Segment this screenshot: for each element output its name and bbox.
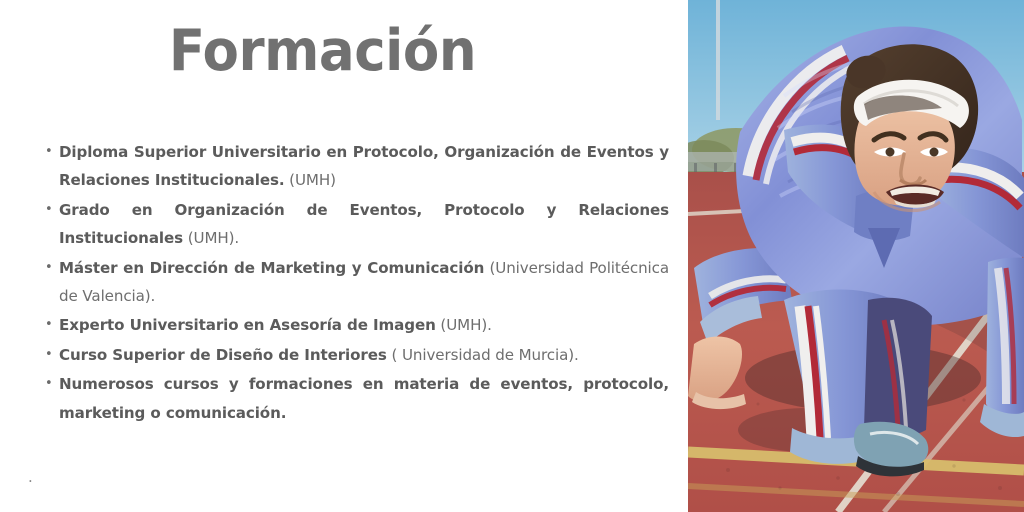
- list-item: Curso Superior de Diseño de Interiores (…: [45, 341, 669, 369]
- list-item-bold-text: Numerosos cursos y formaciones en materi…: [59, 375, 669, 421]
- list-item: Grado en Organización de Eventos, Protoc…: [45, 196, 669, 253]
- text-column: Formación Diploma Superior Universitario…: [0, 0, 688, 512]
- list-item-bold-text: Máster en Dirección de Marketing y Comun…: [59, 259, 484, 277]
- athlete-photo: [688, 0, 1024, 512]
- trailing-period-mark: .: [28, 470, 33, 485]
- list-item-regular-text: (UMH).: [436, 316, 492, 334]
- list-item: Diploma Superior Universitario en Protoc…: [45, 138, 669, 195]
- list-item-bold-text: Grado en Organización de Eventos, Protoc…: [59, 201, 669, 247]
- list-item: Numerosos cursos y formaciones en materi…: [45, 370, 669, 427]
- athlete-photo-illustration: [688, 0, 1024, 512]
- list-item: Experto Universitario en Asesoría de Ima…: [45, 311, 669, 339]
- list-item: Máster en Dirección de Marketing y Comun…: [45, 254, 669, 311]
- list-item-bold-text: Experto Universitario en Asesoría de Ima…: [59, 316, 436, 334]
- page-title: Formación: [23, 20, 623, 84]
- list-item-regular-text: (UMH).: [183, 229, 239, 247]
- list-item-regular-text: ( Universidad de Murcia).: [387, 346, 579, 364]
- list-item-bold-text: Diploma Superior Universitario en Protoc…: [59, 143, 669, 189]
- formation-bullet-list: Diploma Superior Universitario en Protoc…: [45, 138, 669, 428]
- list-item-regular-text: (UMH): [284, 171, 335, 189]
- list-item-bold-text: Curso Superior de Diseño de Interiores: [59, 346, 387, 364]
- slide: Formación Diploma Superior Universitario…: [0, 0, 1024, 512]
